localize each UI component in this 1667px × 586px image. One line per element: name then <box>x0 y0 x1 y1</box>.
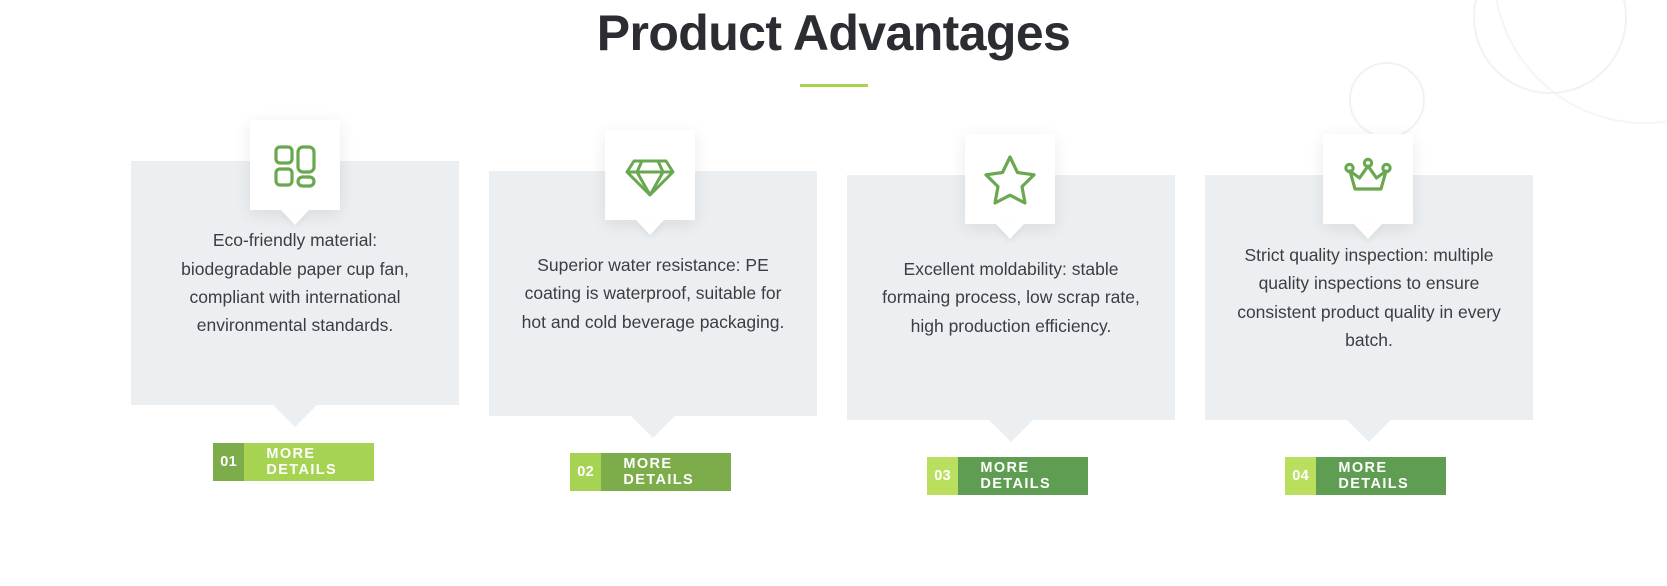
panel-pointer <box>1347 420 1391 442</box>
panel-pointer <box>989 420 1033 442</box>
card-number-badge: 01 <box>213 443 244 481</box>
card-description: Superior water resistance: PE coating is… <box>489 251 817 336</box>
diamond-icon <box>624 149 676 201</box>
crown-icon <box>1341 152 1395 206</box>
panel-pointer <box>631 416 675 438</box>
card-icon-bubble <box>965 134 1055 224</box>
more-details-button-01[interactable]: 01 MORE DETAILS <box>213 443 374 481</box>
card-icon-bubble <box>250 120 340 210</box>
card-description: Strict quality inspection: multiple qual… <box>1205 241 1533 354</box>
more-details-label: MORE DETAILS <box>244 443 373 481</box>
card-icon-bubble <box>605 130 695 220</box>
more-details-button-03[interactable]: 03 MORE DETAILS <box>927 457 1088 495</box>
more-details-label: MORE DETAILS <box>958 457 1087 495</box>
card-icon-bubble <box>1323 134 1413 224</box>
more-details-label: MORE DETAILS <box>1316 457 1445 495</box>
panel-pointer <box>273 405 317 427</box>
bubble-pointer <box>636 220 664 235</box>
more-details-label: MORE DETAILS <box>601 453 730 491</box>
card-description: Eco-friendly material: biodegradable pap… <box>131 226 459 339</box>
bubble-pointer <box>1354 224 1382 239</box>
card-number-badge: 02 <box>570 453 601 491</box>
card-number-badge: 04 <box>1285 457 1316 495</box>
more-details-button-04[interactable]: 04 MORE DETAILS <box>1285 457 1446 495</box>
bubble-pointer <box>996 224 1024 239</box>
card-number-badge: 03 <box>927 457 958 495</box>
more-details-button-02[interactable]: 02 MORE DETAILS <box>570 453 731 491</box>
grid-icon <box>270 140 320 190</box>
bubble-pointer <box>281 210 309 225</box>
advantage-card-list: Eco-friendly material: biodegradable pap… <box>0 0 1667 586</box>
star-icon <box>984 153 1036 205</box>
card-description: Excellent moldability: stable formaing p… <box>847 255 1175 340</box>
